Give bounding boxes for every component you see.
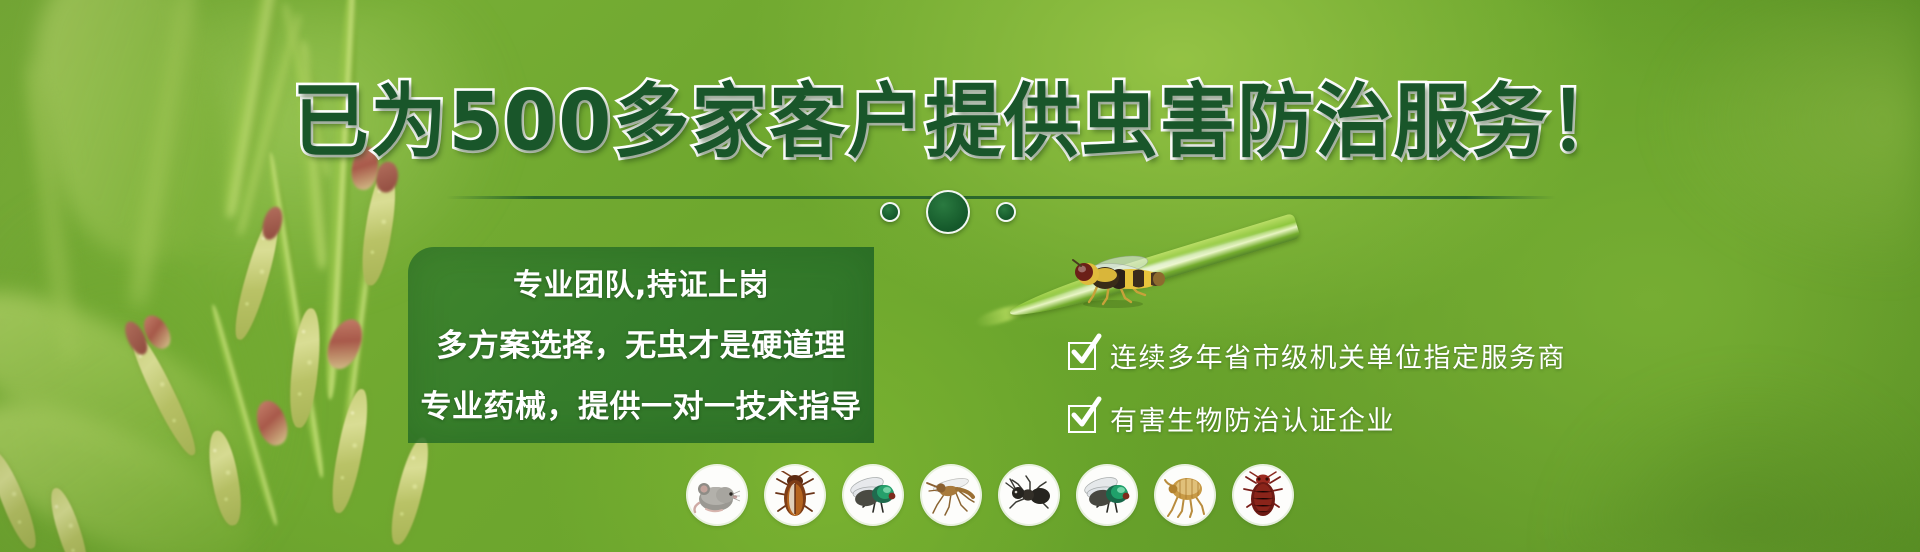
pest-control-hero-banner: 已为500多家客户提供虫害防治服务！ 专业团队,持证上岗 多方案选择，无虫才是硬… (0, 0, 1920, 552)
blowfly-icon[interactable] (1078, 466, 1136, 524)
ant-icon[interactable] (1000, 466, 1058, 524)
decorative-dot-small-left (880, 202, 900, 222)
pest-icon-row (688, 466, 1292, 524)
feature-line-1: 专业团队,持证上岗 (513, 260, 769, 304)
credential-item: 连续多年省市级机关单位指定服务商 (1068, 336, 1566, 375)
decorative-dot-large (926, 190, 970, 234)
credential-item: 有害生物防治认证企业 (1068, 399, 1566, 438)
cockroach-icon[interactable] (766, 466, 824, 524)
bedbug-icon[interactable] (1234, 466, 1292, 524)
hoverfly-image (1055, 248, 1175, 310)
credential-label: 连续多年省市级机关单位指定服务商 (1110, 336, 1566, 375)
credentials-list: 连续多年省市级机关单位指定服务商 有害生物防治认证企业 (1068, 336, 1566, 438)
credential-label: 有害生物防治认证企业 (1110, 399, 1395, 438)
feature-panel: 专业团队,持证上岗 多方案选择，无虫才是硬道理 专业药械，提供一对一技术指导 (408, 247, 874, 443)
mouse-icon[interactable] (688, 466, 746, 524)
decorative-dot-group (880, 190, 1016, 234)
mosquito-icon[interactable] (922, 466, 980, 524)
fly-icon[interactable] (844, 466, 902, 524)
checkbox-checked-icon (1068, 342, 1096, 370)
flea-icon[interactable] (1156, 466, 1214, 524)
feature-line-3: 专业药械，提供一对一技术指导 (421, 381, 862, 426)
feature-panel-lines: 专业团队,持证上岗 多方案选择，无虫才是硬道理 专业药械，提供一对一技术指导 (408, 247, 874, 443)
decorative-dot-small-right (996, 202, 1016, 222)
feature-line-2: 多方案选择，无虫才是硬道理 (436, 320, 846, 365)
checkbox-checked-icon (1068, 405, 1096, 433)
